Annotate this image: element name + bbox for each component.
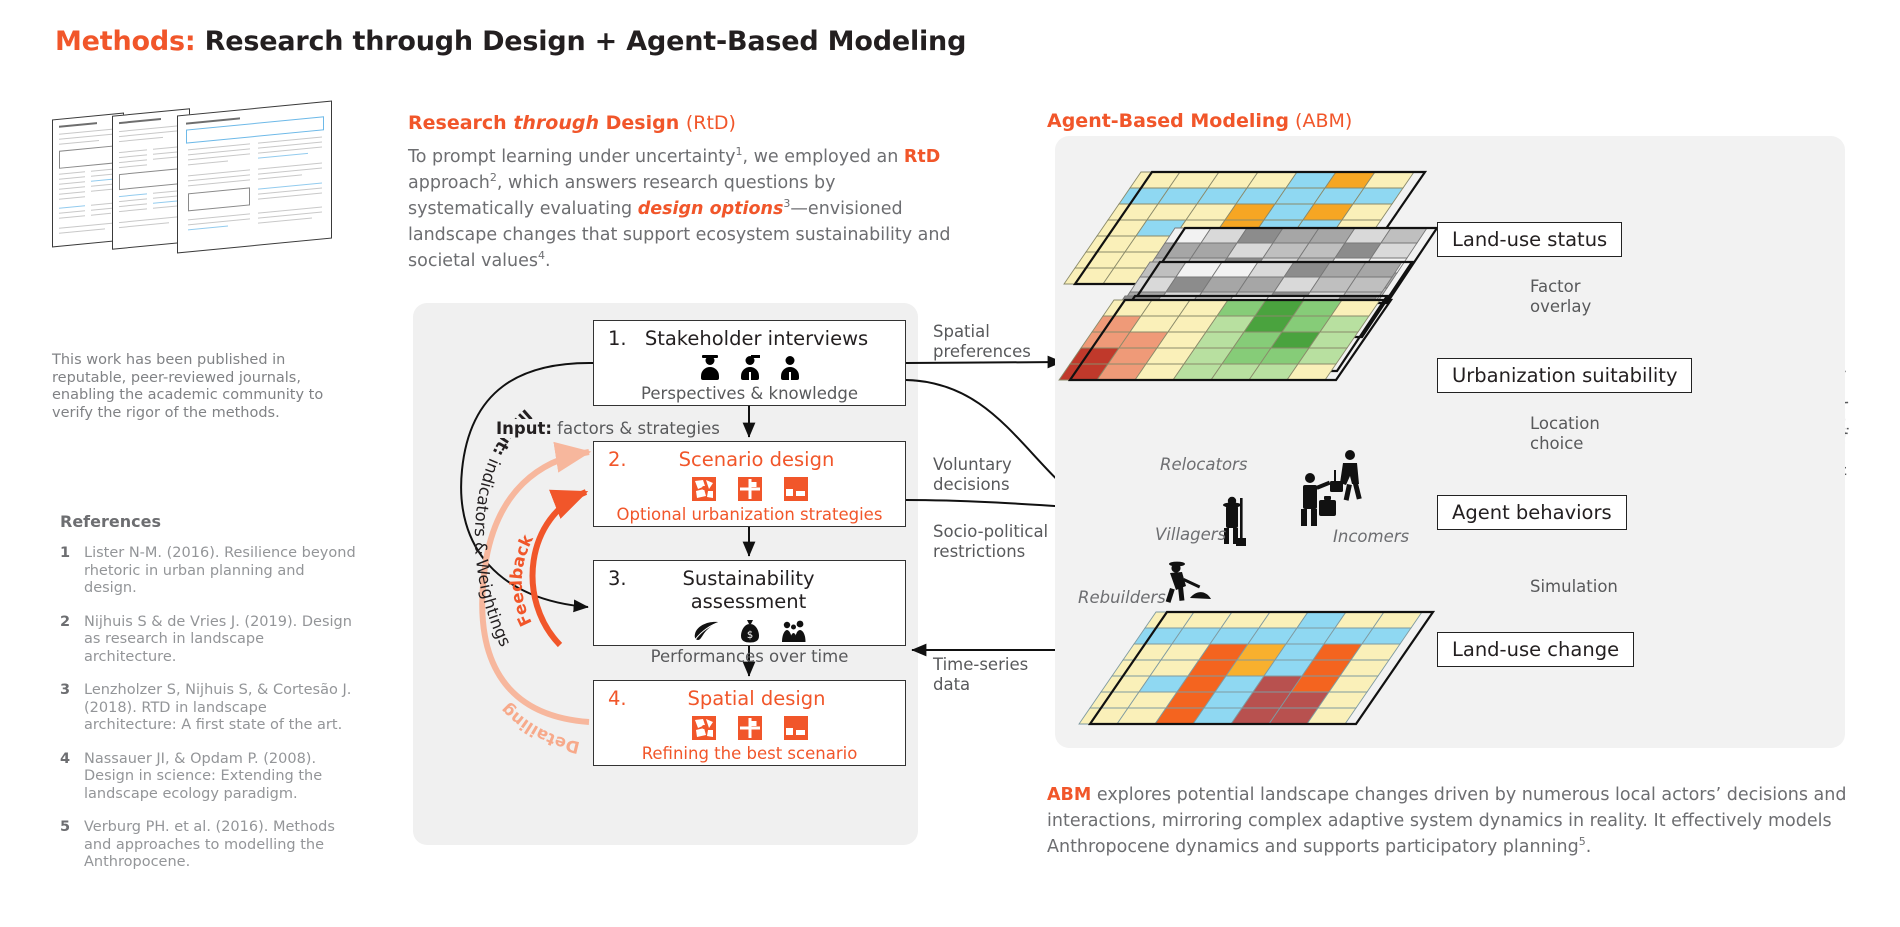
rtd-text-2: , we employed an bbox=[742, 147, 903, 167]
rtd-heading-italic: through bbox=[513, 112, 599, 134]
abm-box-land-use-status[interactable]: Land-use status bbox=[1437, 222, 1622, 257]
abm-text-1: explores potential landscape changes dri… bbox=[1047, 785, 1846, 857]
step-title: Spatial design bbox=[636, 687, 905, 710]
label-villagers: Villagers bbox=[1155, 525, 1226, 544]
reference-text: Lister N-M. (2016). Resilience beyond rh… bbox=[84, 545, 356, 596]
map-plan-icon bbox=[784, 477, 808, 501]
label-spatial-preferences: Spatial preferences bbox=[933, 322, 1031, 362]
family-icon bbox=[781, 620, 807, 642]
person-hat-icon bbox=[701, 356, 719, 380]
publication-thumbnails bbox=[52, 108, 332, 253]
step-title: Sustainability assessment bbox=[636, 567, 905, 613]
step-number: 3. bbox=[594, 567, 636, 590]
page-title: Methods: Research through Design + Agent… bbox=[55, 26, 966, 57]
person-graduate-icon bbox=[741, 356, 759, 380]
map-patchwork-icon bbox=[692, 716, 716, 740]
reference-text: Nijhuis S & de Vries J. (2019). Design a… bbox=[84, 614, 352, 665]
person-plain-icon bbox=[781, 356, 799, 380]
label-socio-political-restrictions: Socio-political restrictions bbox=[933, 522, 1048, 562]
label-input-factors-rest: factors & strategies bbox=[552, 419, 720, 438]
abm-heading: Agent-Based Modeling (ABM) bbox=[1047, 110, 1352, 132]
svg-text:$: $ bbox=[746, 630, 752, 641]
label-time-series-data: Time-series data bbox=[933, 655, 1028, 695]
reference-number: 4 bbox=[60, 751, 70, 769]
rtd-sup-4: 4 bbox=[538, 249, 545, 262]
leaf-icon bbox=[693, 620, 719, 642]
reference-text: Lenzholzer S, Nijhuis S, & Cortesão J. (… bbox=[84, 682, 351, 733]
label-factor-overlay: Factor overlay bbox=[1530, 277, 1591, 317]
step-icons: $ bbox=[594, 617, 905, 645]
label-simulation: Simulation bbox=[1530, 577, 1618, 597]
references-heading: References bbox=[60, 512, 161, 531]
rtd-term-rtd: RtD bbox=[904, 147, 940, 167]
rtd-heading-part2: Design bbox=[599, 112, 686, 134]
step-icons bbox=[594, 475, 905, 503]
rtd-text-1: To prompt learning under uncertainty bbox=[408, 147, 735, 167]
page-title-rest: Research through Design + Agent-Based Mo… bbox=[205, 26, 967, 57]
abm-text-2: . bbox=[1586, 837, 1592, 857]
reference-item: 2 Nijhuis S & de Vries J. (2019). Design… bbox=[60, 614, 360, 667]
rtd-text-6: . bbox=[545, 251, 551, 271]
step-title: Stakeholder interviews bbox=[636, 327, 905, 350]
references-list: 1 Lister N-M. (2016). Resilience beyond … bbox=[60, 545, 360, 888]
step-number: 1. bbox=[594, 327, 636, 350]
rtd-step-2[interactable]: 2. Scenario design Optional urbanization… bbox=[593, 441, 906, 527]
step-subtitle: Perspectives & knowledge bbox=[594, 384, 905, 410]
step-number: 2. bbox=[594, 448, 636, 471]
abm-box-urbanization-suitability[interactable]: Urbanization suitability bbox=[1437, 358, 1692, 393]
reference-item: 1 Lister N-M. (2016). Resilience beyond … bbox=[60, 545, 360, 598]
label-rebuilders: Rebuilders bbox=[1078, 588, 1166, 607]
label-location-choice: Location choice bbox=[1530, 414, 1600, 454]
rtd-term-design-options: design options bbox=[638, 199, 784, 219]
abm-term: ABM bbox=[1047, 785, 1091, 805]
rtd-heading-part1: Research bbox=[408, 112, 513, 134]
reference-number: 5 bbox=[60, 819, 70, 837]
label-voluntary-decisions: Voluntary decisions bbox=[933, 455, 1012, 495]
publications-caption: This work has been published in reputabl… bbox=[52, 352, 342, 422]
step-subtitle: Optional urbanization strategies bbox=[594, 505, 905, 531]
rtd-step-3[interactable]: 3. Sustainability assessment $ Performan… bbox=[593, 560, 906, 646]
step-title: Scenario design bbox=[636, 448, 905, 471]
rtd-step-4[interactable]: 4. Spatial design Refining the best scen… bbox=[593, 680, 906, 766]
reference-number: 3 bbox=[60, 682, 70, 700]
reference-text: Nassauer JI, & Opdam P. (2008). Design i… bbox=[84, 751, 322, 802]
rtd-paragraph: To prompt learning under uncertainty1, w… bbox=[408, 144, 953, 274]
rtd-heading-paren: (RtD) bbox=[686, 112, 736, 134]
reference-number: 1 bbox=[60, 545, 70, 563]
paper-thumbnail bbox=[177, 101, 332, 254]
label-input-factors-bold: Input: bbox=[496, 419, 552, 438]
abm-heading-paren: (ABM) bbox=[1289, 110, 1352, 132]
rtd-step-1[interactable]: 1. Stakeholder interviews Perspectives &… bbox=[593, 320, 906, 406]
methods-figure: Methods: Research through Design + Agent… bbox=[0, 0, 1900, 927]
map-quadrant-icon bbox=[738, 477, 762, 501]
reference-item: 3 Lenzholzer S, Nijhuis S, & Cortesão J.… bbox=[60, 682, 360, 735]
label-incomers: Incomers bbox=[1333, 527, 1409, 546]
map-plan-icon bbox=[784, 716, 808, 740]
abm-sup: 5 bbox=[1579, 835, 1586, 848]
step-subtitle: Refining the best scenario bbox=[594, 744, 905, 770]
rtd-sup-2: 2 bbox=[490, 171, 497, 184]
step-icons bbox=[594, 714, 905, 742]
reference-item: 5 Verburg PH. et al. (2016). Methods and… bbox=[60, 819, 360, 872]
page-title-prefix: Methods: bbox=[55, 26, 195, 57]
map-patchwork-icon bbox=[692, 477, 716, 501]
label-input-factors: Input: factors & strategies bbox=[493, 419, 723, 438]
step-icons bbox=[594, 354, 905, 382]
reference-number: 2 bbox=[60, 614, 70, 632]
step-number: 4. bbox=[594, 687, 636, 710]
abm-box-land-use-change[interactable]: Land-use change bbox=[1437, 632, 1634, 667]
money-bag-icon: $ bbox=[741, 619, 759, 643]
label-relocators: Relocators bbox=[1160, 455, 1247, 474]
rtd-heading: Research through Design (RtD) bbox=[408, 112, 736, 134]
map-quadrant-icon bbox=[738, 716, 762, 740]
abm-heading-bold: Agent-Based Modeling bbox=[1047, 110, 1289, 132]
step-subtitle: Performances over time bbox=[594, 647, 905, 673]
abm-box-agent-behaviors[interactable]: Agent behaviors bbox=[1437, 495, 1627, 530]
reference-item: 4 Nassauer JI, & Opdam P. (2008). Design… bbox=[60, 751, 360, 804]
abm-paragraph: ABM explores potential landscape changes… bbox=[1047, 782, 1847, 860]
reference-text: Verburg PH. et al. (2016). Methods and a… bbox=[84, 819, 335, 870]
rtd-text-3: approach bbox=[408, 173, 490, 193]
